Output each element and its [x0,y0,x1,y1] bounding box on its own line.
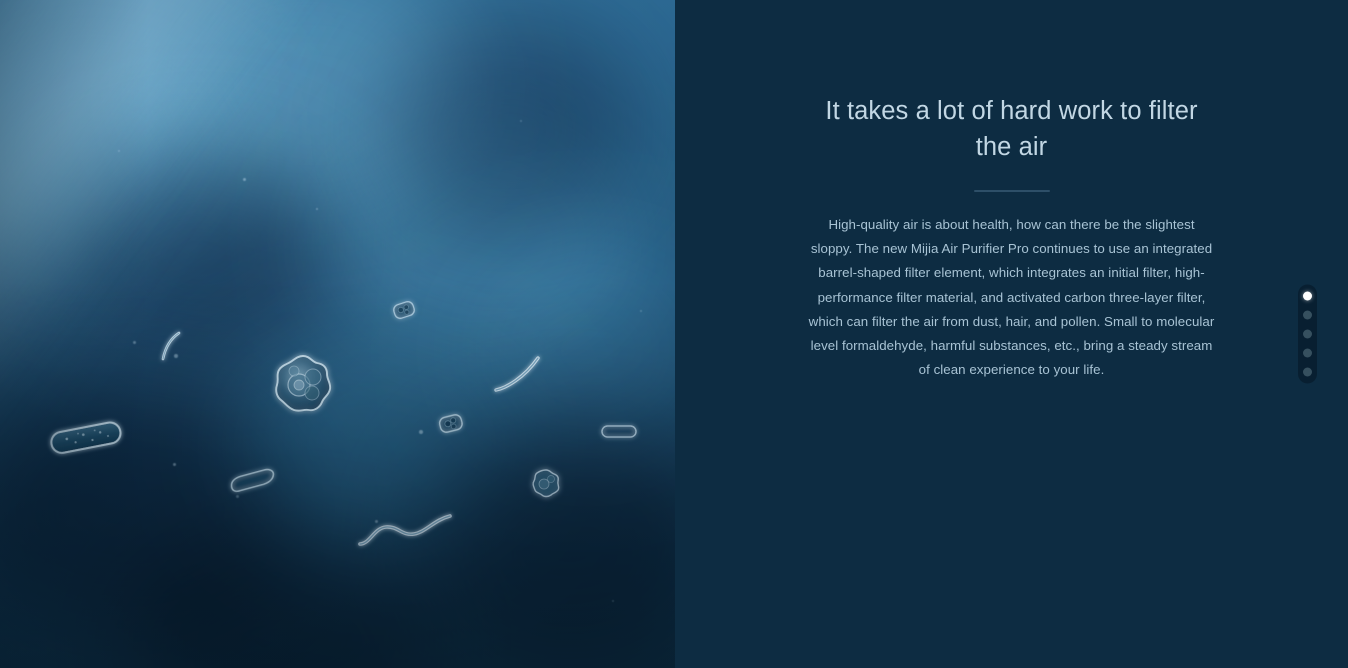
page-title: It takes a lot of hard work to filter th… [808,93,1216,165]
particle-speck [243,178,246,181]
particle-speck [173,463,176,466]
particle-speck [375,520,378,523]
pagination-dot-3[interactable] [1303,330,1312,339]
title-divider [974,190,1050,192]
pagination-dot-5[interactable] [1303,368,1312,377]
particle-speck [612,600,614,602]
pagination-dot-2[interactable] [1303,311,1312,320]
microscope-air-particles-image [0,0,675,668]
particle-speck [640,310,642,312]
pagination-dot-1[interactable] [1303,292,1312,301]
particle-speck [174,354,178,358]
slide-root: It takes a lot of hard work to filter th… [0,0,1348,668]
particle-speck [419,430,423,434]
body-paragraph: High-quality air is about health, how ca… [808,213,1216,382]
haze-blob [60,150,340,360]
particle-speck [520,120,522,122]
copy-block: It takes a lot of hard work to filter th… [808,93,1216,382]
particle-speck [133,341,136,344]
slide-pagination[interactable] [1298,285,1317,384]
particle-speck [316,208,318,210]
particle-speck [118,150,120,152]
pagination-dot-4[interactable] [1303,349,1312,358]
haze-blob [380,20,640,240]
particle-speck [236,495,239,498]
copy-panel: It takes a lot of hard work to filter th… [675,0,1348,668]
